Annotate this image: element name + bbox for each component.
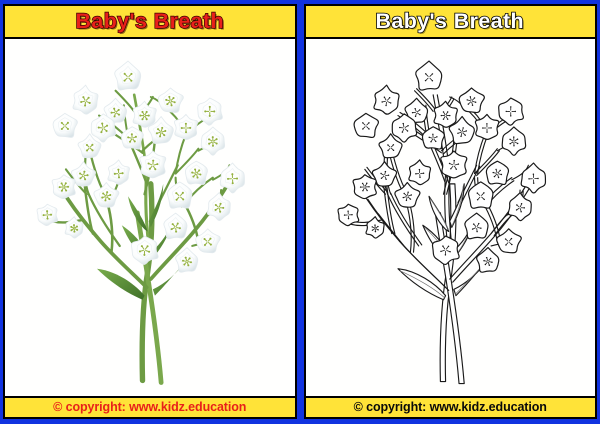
copyright-text: © copyright: www.kidz.education [354,401,547,414]
colored-panel-header: Baby's Breath [5,6,295,39]
flower-blossom [354,113,378,137]
lineart-panel-footer: © copyright: www.kidz.education [306,396,596,417]
flower-blossom [498,98,523,125]
flower-blossom [73,85,98,114]
lineart-artwork-canvas [306,39,596,396]
flower-blossom [434,101,457,127]
worksheet-page: Baby's Breath [0,0,600,424]
flower-blossom [353,175,376,199]
lineart-panel-header: Baby's Breath [306,6,596,39]
flower-blossom [508,193,531,221]
flower-group [337,61,544,272]
lineart-panel: Baby's Breath [304,4,598,419]
flower-blossom [496,229,521,253]
flower-blossom [52,175,75,199]
babys-breath-colored-illustration [5,39,295,396]
page-title: Baby's Breath [75,11,223,32]
flower-blossom [115,61,141,90]
colored-panel: Baby's Breath [3,4,297,419]
flower-blossom [373,85,398,114]
flower-blossom [468,182,492,208]
page-title: Baby's Breath [376,11,524,32]
flower-blossom [502,127,525,155]
babys-breath-lineart-illustration [306,39,596,396]
flower-blossom [459,88,484,113]
copyright-text: © copyright: www.kidz.education [53,401,246,414]
flower-blossom [486,161,508,184]
flower-blossom [207,193,230,221]
flower-blossom [464,213,487,239]
flower-blossom [415,61,441,90]
flower-blossom [164,213,187,239]
flower-blossom [337,204,358,225]
colored-artwork-canvas [5,39,295,396]
colored-panel-footer: © copyright: www.kidz.education [5,396,295,417]
